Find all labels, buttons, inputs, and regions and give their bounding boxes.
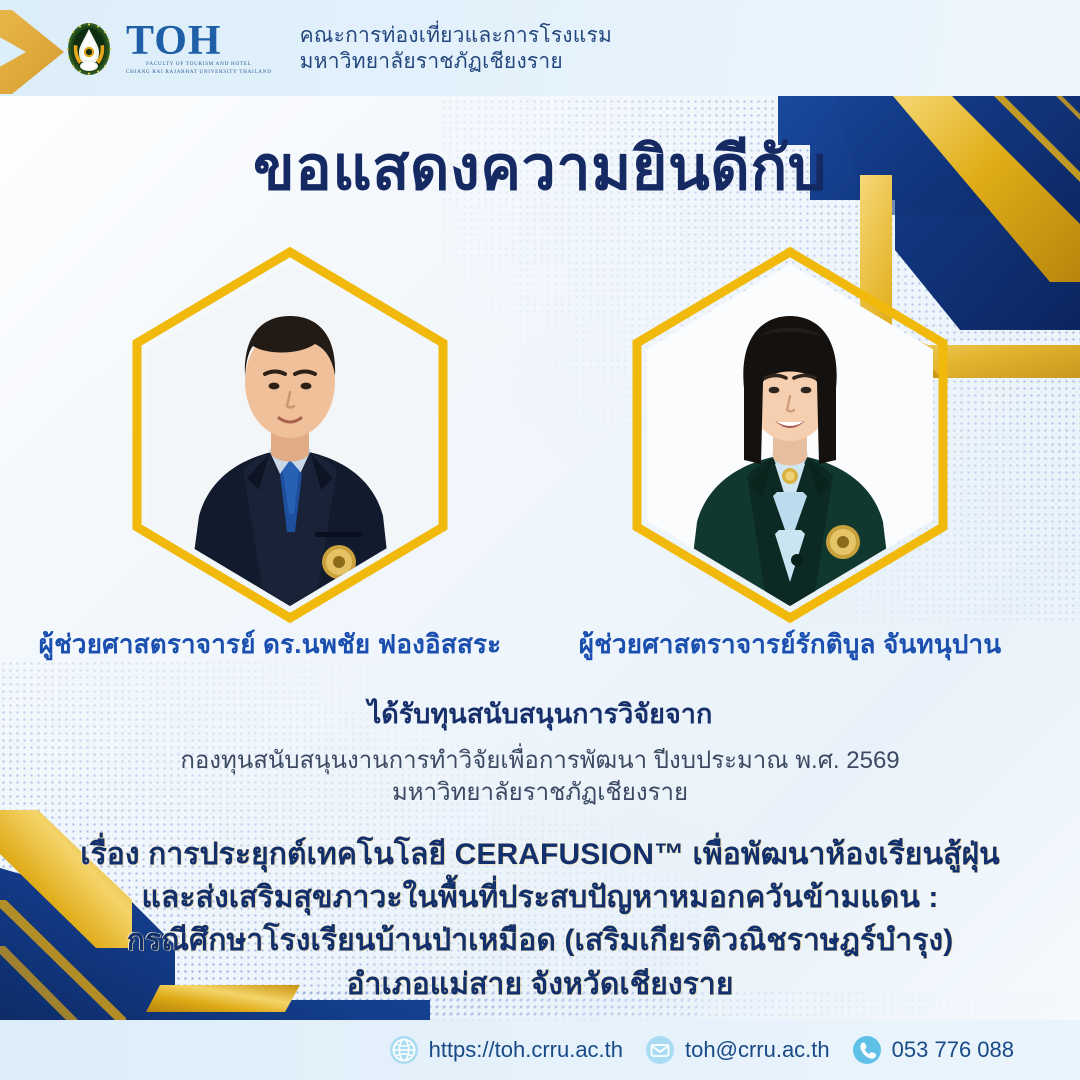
- university-crest-icon: [66, 21, 112, 77]
- research-title-line-1: เรื่อง การประยุกต์เทคโนโลยี CERAFUSION™ …: [0, 833, 1080, 876]
- congratulations-poster: TOH FACULTY OF TOURISM AND HOTEL CHIANG …: [0, 0, 1080, 1080]
- chevron-right-icon: [0, 8, 68, 96]
- page-title: ขอแสดงความยินดีกับ: [0, 133, 1080, 205]
- toh-wordmark: TOH FACULTY OF TOURISM AND HOTEL CHIANG …: [126, 22, 272, 77]
- faculty-name-line1: คณะการท่องเที่ยวและการโรงแรม: [300, 23, 612, 49]
- funding-line-2: มหาวิทยาลัยราชภัฏเชียงราย: [0, 772, 1080, 811]
- contact-email[interactable]: toh@crru.ac.th: [645, 1035, 830, 1065]
- toh-subtitle-line1: FACULTY OF TOURISM AND HOTEL: [126, 61, 272, 69]
- faculty-name: คณะการท่องเที่ยวและการโรงแรม มหาวิทยาลัย…: [300, 23, 612, 76]
- contact-website[interactable]: https://toh.crru.ac.th: [389, 1035, 623, 1065]
- envelope-icon: [645, 1035, 675, 1065]
- phone-icon: [852, 1035, 882, 1065]
- research-title: เรื่อง การประยุกต์เทคโนโลยี CERAFUSION™ …: [0, 833, 1080, 1006]
- toh-word: TOH: [126, 22, 272, 62]
- research-title-line-3: กรณีศึกษาโรงเรียนบ้านป่าเหมือด (เสริมเกี…: [0, 919, 1080, 962]
- email-text: toh@crru.ac.th: [685, 1037, 830, 1063]
- person-name-1: ผู้ช่วยศาสตราจารย์ ดร.นพชัย ฟองอิสสระ: [10, 624, 530, 665]
- hexagon-frame-1: [125, 244, 455, 626]
- faculty-name-line2: มหาวิทยาลัยราชภัฏเชียงราย: [300, 49, 612, 75]
- website-text: https://toh.crru.ac.th: [429, 1037, 623, 1063]
- toh-subtitle-line2: CHIANG RAI RAJABHAT UNIVERSITY THAILAND: [126, 69, 272, 77]
- contact-row: https://toh.crru.ac.th toh@crru.ac.th 05…: [0, 1020, 1080, 1080]
- funding-heading: ได้รับทุนสนับสนุนการวิจัยจาก: [0, 692, 1080, 735]
- research-title-line-4: อำเภอแม่สาย จังหวัดเชียงราย: [0, 963, 1080, 1006]
- research-title-line-2: และส่งเสริมสุขภาวะในพื้นที่ประสบปัญหาหมอ…: [0, 876, 1080, 919]
- contact-phone[interactable]: 053 776 088: [852, 1035, 1014, 1065]
- brand-lockup: TOH FACULTY OF TOURISM AND HOTEL CHIANG …: [66, 14, 612, 84]
- globe-icon: [389, 1035, 419, 1065]
- portrait-frame-1: [125, 244, 455, 626]
- person-name-2: ผู้ช่วยศาสตราจารย์รักติบูล จันทนุปาน: [530, 624, 1050, 665]
- phone-text: 053 776 088: [892, 1037, 1014, 1063]
- hexagon-frame-2: [625, 244, 955, 626]
- portrait-frame-2: [625, 244, 955, 626]
